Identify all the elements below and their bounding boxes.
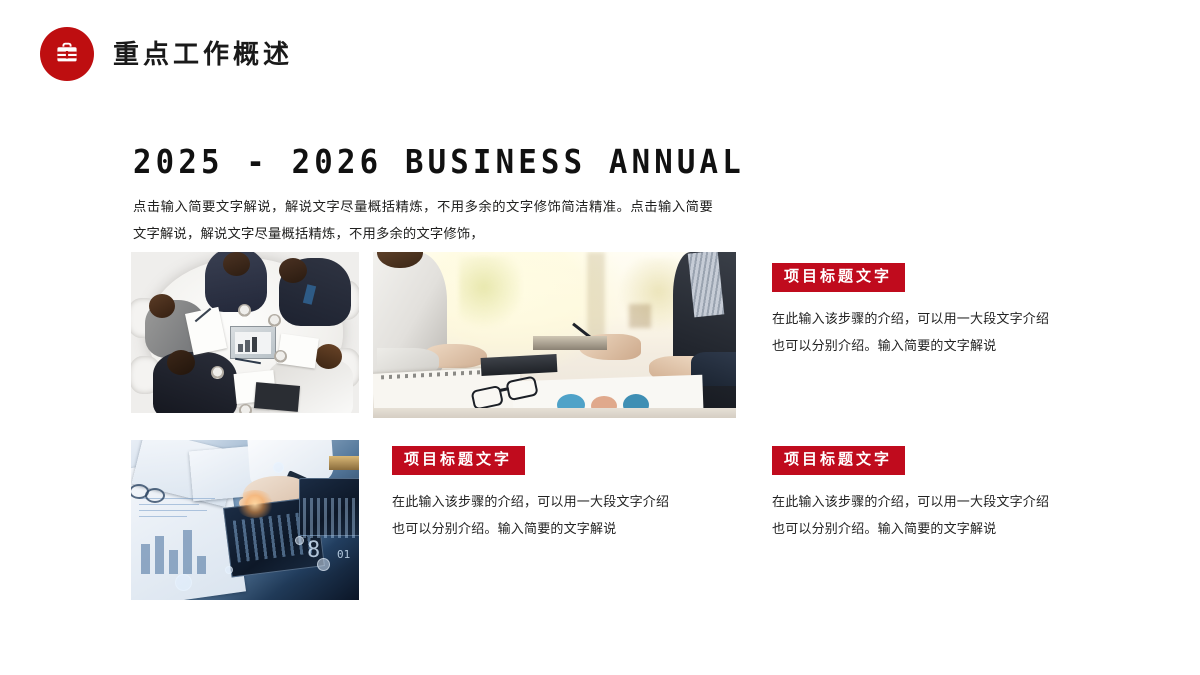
bokeh-dot <box>273 462 284 473</box>
eyeglasses <box>145 488 165 503</box>
coffee-cup <box>239 404 252 413</box>
desk-surface <box>373 408 736 418</box>
coffee-cup <box>274 350 287 363</box>
content-line: 也可以分别介绍。输入简要的文字解说 <box>392 516 722 543</box>
background-bars <box>303 498 359 538</box>
glasses-lens-right <box>505 375 539 401</box>
content-block-body: 在此输入该步骤的介绍，可以用一大段文字介绍 也可以分别介绍。输入简要的文字解说 <box>392 489 722 543</box>
briefcase-icon-badge <box>40 27 94 81</box>
chart-line <box>139 510 207 511</box>
content-block-body: 在此输入该步骤的介绍，可以用一大段文字介绍 也可以分别介绍。输入简要的文字解说 <box>772 489 1102 543</box>
content-line: 也可以分别介绍。输入简要的文字解说 <box>772 333 1102 360</box>
chart-bar <box>183 530 192 574</box>
content-block-right-bottom: 项目标题文字 在此输入该步骤的介绍，可以用一大段文字介绍 也可以分别介绍。输入简… <box>772 446 1102 543</box>
tablet-chart-bar <box>238 344 243 352</box>
person-head <box>315 344 342 369</box>
person-head <box>279 258 307 283</box>
content-line: 在此输入该步骤的介绍，可以用一大段文字介绍 <box>772 489 1102 516</box>
chart-line <box>139 504 199 505</box>
document <box>254 382 300 412</box>
photo-meeting <box>131 252 359 413</box>
content-block-mid-bottom: 项目标题文字 在此输入该步骤的介绍，可以用一大段文字介绍 也可以分别介绍。输入简… <box>392 446 722 543</box>
chart-line <box>139 516 187 517</box>
status-badge: 项目标题文字 <box>772 263 905 292</box>
person-head <box>223 252 250 276</box>
touch-glow <box>235 490 275 518</box>
bokeh-dot <box>295 536 304 545</box>
content-block-body: 在此输入该步骤的介绍，可以用一大段文字介绍 也可以分别介绍。输入简要的文字解说 <box>772 306 1102 360</box>
main-heading: 2025 - 2026 BUSINESS ANNUAL <box>133 142 745 181</box>
coffee-cup <box>268 314 281 327</box>
chart-bar <box>141 544 150 574</box>
person-head <box>167 350 195 375</box>
photo-tablet: 8 01 <box>131 440 359 600</box>
chart-bar <box>155 536 164 574</box>
content-line: 在此输入该步骤的介绍，可以用一大段文字介绍 <box>772 306 1102 333</box>
coffee-cup <box>238 304 251 317</box>
slide-header: 重点工作概述 <box>40 27 293 81</box>
coffee-cup <box>211 366 224 379</box>
tablet-chart-bar <box>245 340 250 352</box>
background-foliage <box>459 256 521 334</box>
subtitle-paragraph: 点击输入简要文字解说，解说文字尽量概括精炼，不用多余的文字修饰简洁精准。点击输入… <box>133 193 713 248</box>
background-frame <box>629 304 651 328</box>
content-line: 也可以分别介绍。输入简要的文字解说 <box>772 516 1102 543</box>
bokeh-dot <box>175 574 192 591</box>
person-right-shirt <box>688 252 725 317</box>
person <box>153 352 237 413</box>
book-stack <box>533 336 607 350</box>
chart-bar <box>197 556 206 574</box>
content-block-right-top: 项目标题文字 在此输入该步骤的介绍，可以用一大段文字介绍 也可以分别介绍。输入简… <box>772 263 1102 360</box>
bokeh-dot <box>225 566 233 574</box>
chart-bar <box>169 550 178 574</box>
data-digit: 01 <box>337 548 350 561</box>
status-badge: 项目标题文字 <box>392 446 525 475</box>
book-stack <box>329 456 359 470</box>
data-digit: 8 <box>307 538 320 563</box>
tablet-chart-bar <box>252 337 257 352</box>
content-line: 在此输入该步骤的介绍，可以用一大段文字介绍 <box>392 489 722 516</box>
page-title: 重点工作概述 <box>113 41 293 67</box>
person-head <box>149 294 175 318</box>
briefcase-icon <box>53 40 81 68</box>
photo-desk <box>373 252 736 418</box>
status-badge: 项目标题文字 <box>772 446 905 475</box>
